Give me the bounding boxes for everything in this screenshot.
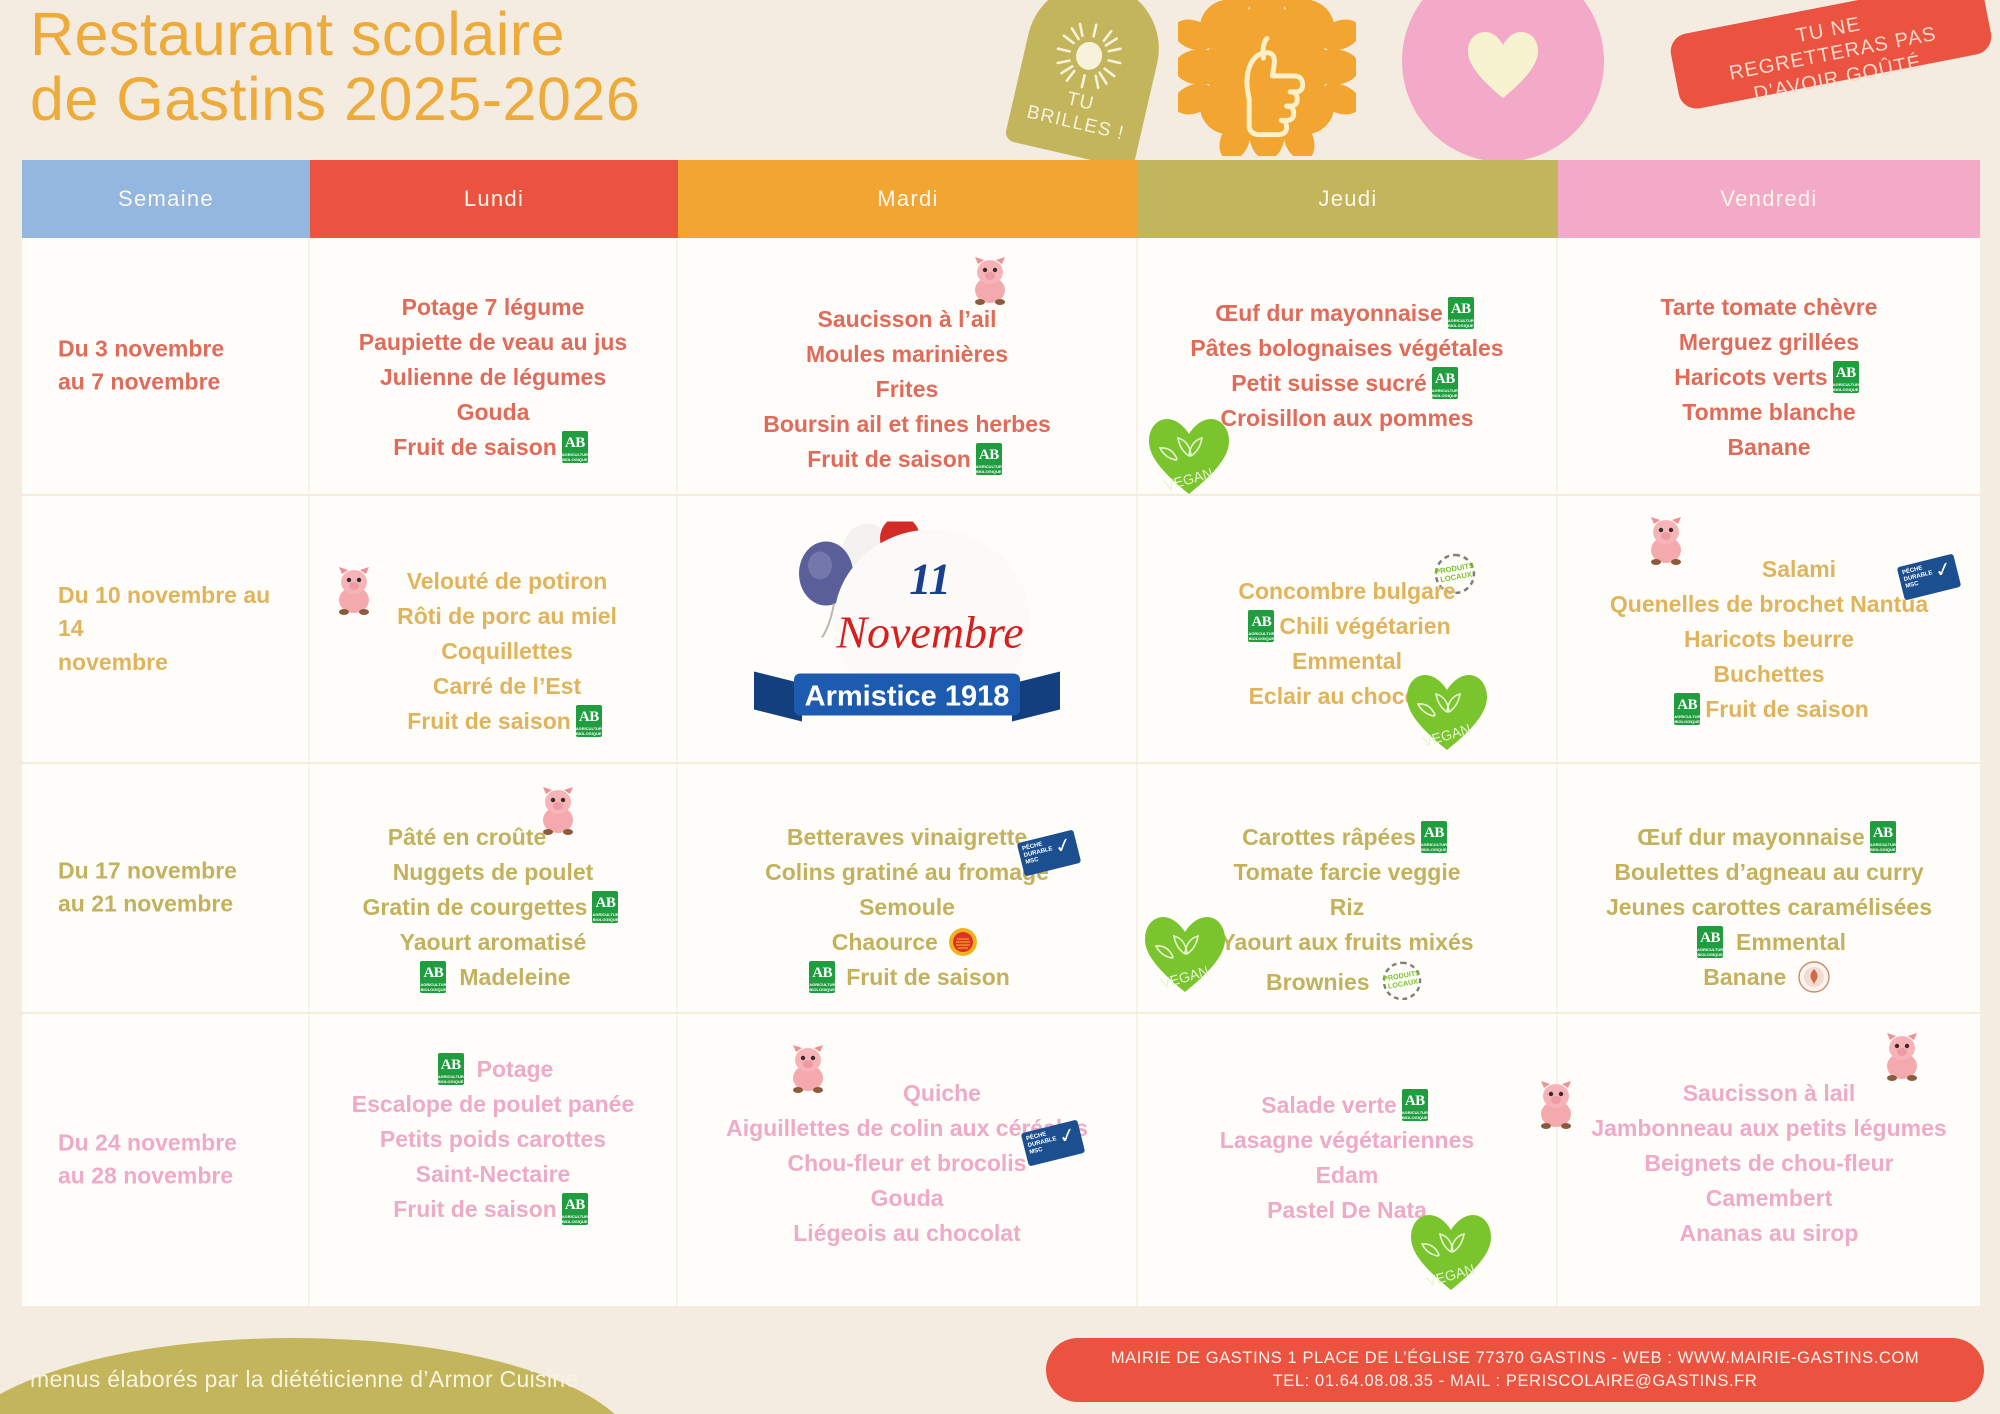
dish: Semoule	[678, 890, 1136, 925]
dish: Tarte tomate chèvre	[1558, 290, 1980, 325]
dish: Frites	[678, 372, 1136, 407]
dish: Carré de l’Est	[338, 669, 676, 704]
dish: Jambonneau aux petits légumes	[1558, 1111, 1980, 1146]
week-label-cell: Du 24 novembre au 28 novembre	[22, 1014, 310, 1306]
dish: Coquillettes	[338, 634, 676, 669]
day-cell-vendredi: Œuf dur mayonnaiseABAGRICULTUREBIOLOGIQU…	[1558, 764, 1980, 1012]
dish: Petits poids carottes	[310, 1122, 676, 1157]
dish: Buchettes	[1558, 657, 1980, 692]
day-cell-jeudi: PRODUITSLOCAUX Concombre bulgare ABAGRIC…	[1138, 496, 1558, 762]
badge-tu-brilles: TUBRILLES !	[1004, 0, 1172, 170]
dish: Fruit de saison	[393, 1196, 557, 1222]
day-cell-vendredi: Salami Quenelles de brochet Nantua Haric…	[1558, 496, 1980, 762]
dish: Pâté en croûte	[310, 820, 676, 855]
dish: Fruit de saison	[807, 446, 971, 472]
header-mardi: Mardi	[678, 160, 1138, 238]
dish: Escalope de poulet panée	[310, 1087, 676, 1122]
dish: Saucisson à lail	[1558, 1076, 1980, 1111]
dish: Eclair au chocolat	[1138, 679, 1556, 714]
dish: Tomme blanche	[1558, 395, 1980, 430]
page-title: Restaurant scolaire de Gastins 2025-2026	[30, 2, 640, 133]
dish: Moules marinières	[678, 337, 1136, 372]
week-label-cell: Du 17 novembre au 21 novembre	[22, 764, 310, 1012]
dish: Œuf dur mayonnaise	[1215, 300, 1442, 326]
day-cell-lundi: Potage 7 légume Paupiette de veau au jus…	[310, 238, 678, 494]
dish: Beignets de chou-fleur	[1558, 1146, 1980, 1181]
dish: Concombre bulgare	[1138, 574, 1556, 609]
dish: Madeleine	[451, 964, 570, 990]
week-range: Du 10 novembre au 14 novembre	[58, 579, 283, 679]
dish: Yaourt aromatisé	[310, 925, 676, 960]
day-cell-mardi: Betteraves vinaigrette Colins gratiné au…	[678, 764, 1138, 1012]
day-cell-lundi: Pâté en croûte Nuggets de poulet Gratin …	[310, 764, 678, 1012]
armistice-11-novembre-graphic: 11 Novembre Armistice 1918	[742, 522, 1072, 737]
ab-organic-icon: ABAGRICULTUREBIOLOGIQUE	[562, 431, 588, 463]
dish: Potage 7 légume	[310, 290, 676, 325]
day-cell-jeudi: Œuf dur mayonnaiseABAGRICULTUREBIOLOGIQU…	[1138, 238, 1558, 494]
flower-thumbs-up-icon	[1178, 0, 1356, 156]
ab-organic-icon: ABAGRICULTUREBIOLOGIQUE	[562, 1193, 588, 1225]
ab-organic-icon: ABAGRICULTUREBIOLOGIQUE	[1248, 610, 1274, 642]
ab-organic-icon: ABAGRICULTUREBIOLOGIQUE	[1448, 297, 1474, 329]
dish: Emmental	[1728, 929, 1846, 955]
dish: Fruit de saison	[407, 708, 571, 734]
fairtrade-icon	[1797, 960, 1831, 994]
day-cell-jeudi: Salade verteABAGRICULTUREBIOLOGIQUE Lasa…	[1138, 1014, 1558, 1306]
ab-organic-icon: ABAGRICULTUREBIOLOGIQUE	[576, 705, 602, 737]
dish: Rôti de porc au miel	[338, 599, 676, 634]
ab-organic-icon: ABAGRICULTUREBIOLOGIQUE	[420, 961, 446, 993]
dish: Œuf dur mayonnaise	[1637, 824, 1864, 850]
day-cell-vendredi: Tarte tomate chèvre Merguez grillées Har…	[1558, 238, 1980, 494]
ab-organic-icon: ABAGRICULTUREBIOLOGIQUE	[976, 443, 1002, 475]
produits-locaux-icon: PRODUITSLOCAUX	[1379, 960, 1425, 1000]
menu-table: Semaine Lundi Mardi Jeudi Vendredi Du 3 …	[22, 160, 1980, 1309]
dish: Emmental	[1138, 644, 1556, 679]
svg-text:Armistice 1918: Armistice 1918	[805, 681, 1010, 713]
pink-heart-circle	[1402, 0, 1604, 162]
dish: Brownies	[1266, 969, 1370, 995]
header-jeudi: Jeudi	[1138, 160, 1558, 238]
svg-text:Novembre: Novembre	[835, 607, 1023, 658]
dish: Haricots beurre	[1558, 622, 1980, 657]
ab-organic-icon: ABAGRICULTUREBIOLOGIQUE	[809, 961, 835, 993]
dish: Petit suisse sucré	[1231, 370, 1427, 396]
dish: Gouda	[310, 395, 676, 430]
dish: Saint-Nectaire	[310, 1157, 676, 1192]
ab-organic-icon: ABAGRICULTUREBIOLOGIQUE	[1432, 367, 1458, 399]
footer-address: MAIRIE DE GASTINS 1 PLACE DE L’ÉGLISE 77…	[1046, 1338, 1984, 1402]
ab-organic-icon: ABAGRICULTUREBIOLOGIQUE	[438, 1053, 464, 1085]
vegan-icon: VEGAN	[1408, 1212, 1494, 1292]
dish: Boursin ail et fines herbes	[678, 407, 1136, 442]
day-cell-vendredi: Saucisson à lail Jambonneau aux petits l…	[1558, 1014, 1980, 1306]
dish: Tomate farcie veggie	[1138, 855, 1556, 890]
day-cell-lundi: Velouté de potiron Rôti de porc au miel …	[310, 496, 678, 762]
dish: Velouté de potiron	[338, 564, 676, 599]
dish: Liégeois au chocolat	[678, 1216, 1136, 1251]
dish: Merguez grillées	[1558, 325, 1980, 360]
header-semaine: Semaine	[22, 160, 310, 238]
dish: Chili végétarien	[1279, 613, 1450, 639]
dish: Fruit de saison	[840, 964, 1010, 990]
footer-note: menus élaborés par la diététicienne d’Ar…	[30, 1366, 578, 1393]
dish: Paupiette de veau au jus	[310, 325, 676, 360]
heart-icon	[1466, 30, 1540, 100]
day-cell-mardi: Saucisson à l’ail Moules marinières Frit…	[678, 238, 1138, 494]
dish: Edam	[1138, 1158, 1556, 1193]
day-cell-jeudi: Carottes râpéesABAGRICULTUREBIOLOGIQUE T…	[1138, 764, 1558, 1012]
week-label-cell: Du 3 novembre au 7 novembre	[22, 238, 310, 494]
vegan-icon: VEGAN	[1142, 914, 1228, 994]
dish: Gouda	[678, 1181, 1136, 1216]
header-lundi: Lundi	[310, 160, 678, 238]
ab-organic-icon: ABAGRICULTUREBIOLOGIQUE	[1833, 361, 1859, 393]
dish: Gratin de courgettes	[363, 894, 588, 920]
dish: Banane	[1558, 430, 1980, 465]
dish: Nuggets de poulet	[310, 855, 676, 890]
table-row: Du 24 novembre au 28 novembre ABAGRICULT…	[22, 1014, 1980, 1306]
dish: Potage	[469, 1056, 554, 1082]
header-vendredi: Vendredi	[1558, 160, 1980, 238]
dish: Jeunes carottes caramélisées	[1558, 890, 1980, 925]
footer-address-line2: TEL: 01.64.08.08.35 - MAIL : PERISCOLAIR…	[1273, 1370, 1758, 1393]
ab-organic-icon: ABAGRICULTUREBIOLOGIQUE	[1674, 693, 1700, 725]
dish: Boulettes d’agneau au curry	[1558, 855, 1980, 890]
pig-icon	[1876, 1032, 1928, 1082]
table-header-row: Semaine Lundi Mardi Jeudi Vendredi	[22, 160, 1980, 238]
ab-organic-icon: ABAGRICULTUREBIOLOGIQUE	[1421, 821, 1447, 853]
vegan-icon: VEGAN	[1146, 416, 1232, 496]
dish: Haricots verts	[1674, 364, 1827, 390]
footer-address-line1: MAIRIE DE GASTINS 1 PLACE DE L’ÉGLISE 77…	[1111, 1347, 1919, 1370]
dish: Saucisson à l’ail	[678, 302, 1136, 337]
vegan-icon: VEGAN	[1404, 672, 1490, 752]
dish: Ananas au sirop	[1558, 1216, 1980, 1251]
dish: Salade verte	[1261, 1092, 1397, 1118]
day-cell-mardi-armistice: 11 Novembre Armistice 1918	[678, 496, 1138, 762]
aop-label-icon	[948, 926, 978, 958]
day-cell-lundi: ABAGRICULTUREBIOLOGIQUEPotage Escalope d…	[310, 1014, 678, 1306]
table-row: Du 3 novembre au 7 novembre Potage 7 lég…	[22, 238, 1980, 496]
week-range: Du 3 novembre au 7 novembre	[58, 333, 224, 400]
ab-organic-icon: ABAGRICULTUREBIOLOGIQUE	[1697, 926, 1723, 958]
dish: Banane	[1703, 964, 1786, 990]
dish: Camembert	[1558, 1181, 1980, 1216]
table-row: Du 17 novembre au 21 novembre Pâté en cr…	[22, 764, 1980, 1014]
svg-text:PRODUITSLOCAUX: PRODUITSLOCAUX	[1382, 968, 1422, 991]
dish: Julienne de légumes	[310, 360, 676, 395]
svg-text:11: 11	[909, 555, 951, 604]
dish: Fruit de saison	[1705, 696, 1869, 722]
dish: Chaource	[832, 929, 938, 955]
badge-tu-ne-regretteras-pas: TU NEREGRETTERAS PASD’AVOIR GOÛTÉ	[1668, 0, 1995, 112]
table-row: Du 10 novembre au 14 novembre Velouté de…	[22, 496, 1980, 764]
day-cell-mardi: Quiche Aiguillettes de colin aux céréale…	[678, 1014, 1138, 1306]
week-range: Du 24 novembre au 28 novembre	[58, 1127, 237, 1194]
menu-poster: Restaurant scolaire de Gastins 2025-2026…	[0, 0, 2000, 1414]
ab-organic-icon: ABAGRICULTUREBIOLOGIQUE	[1870, 821, 1896, 853]
dish: Quiche	[678, 1076, 1136, 1111]
week-range: Du 17 novembre au 21 novembre	[58, 855, 237, 922]
pig-icon	[964, 256, 1016, 306]
dish: Carottes râpées	[1242, 824, 1416, 850]
badge-tu-ne-regretteras-pas-label: TU NEREGRETTERAS PASD’AVOIR GOÛTÉ	[1670, 0, 1996, 121]
dish: Fruit de saison	[393, 434, 557, 460]
ab-organic-icon: ABAGRICULTUREBIOLOGIQUE	[592, 891, 618, 923]
dish: Pâtes bolognaises végétales	[1138, 331, 1556, 366]
week-label-cell: Du 10 novembre au 14 novembre	[22, 496, 310, 762]
dish: Lasagne végétariennes	[1138, 1123, 1556, 1158]
ab-organic-icon: ABAGRICULTUREBIOLOGIQUE	[1402, 1089, 1428, 1121]
